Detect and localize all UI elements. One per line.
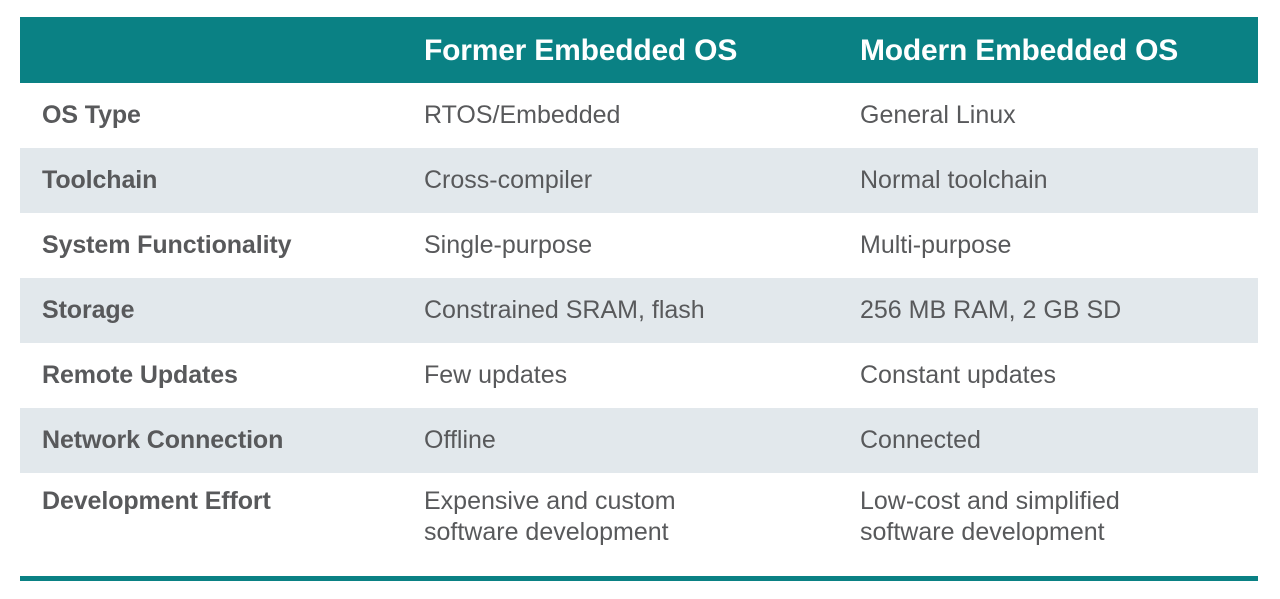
column-header-modern-embedded-os: Modern Embedded OS [840,17,1258,83]
cell-feature: Network Connection [20,408,403,473]
cell-feature: OS Type [20,83,403,148]
embedded-os-comparison-table: Former Embedded OS Modern Embedded OS OS… [20,17,1258,576]
cell-former: Cross-compiler [403,148,840,213]
table-header: Former Embedded OS Modern Embedded OS [20,17,1258,83]
column-header-feature [20,17,403,83]
cell-feature: Development Effort [20,473,403,576]
cell-former: RTOS/Embedded [403,83,840,148]
table-row: Development Effort Expensive and custom … [20,473,1258,576]
table-row: Storage Constrained SRAM, flash 256 MB R… [20,278,1258,343]
cell-former-line-1: Expensive and custom [424,486,840,517]
cell-feature: Toolchain [20,148,403,213]
cell-modern-line-2: software development [860,517,1258,548]
table-row: Remote Updates Few updates Constant upda… [20,343,1258,408]
cell-modern-line-1: Low-cost and simplified [860,486,1258,517]
comparison-slide: Former Embedded OS Modern Embedded OS OS… [0,0,1280,599]
cell-former: Single-purpose [403,213,840,278]
table-row: Toolchain Cross-compiler Normal toolchai… [20,148,1258,213]
cell-feature: System Functionality [20,213,403,278]
table-row: OS Type RTOS/Embedded General Linux [20,83,1258,148]
cell-former: Offline [403,408,840,473]
cell-modern: Constant updates [840,343,1258,408]
cell-feature: Remote Updates [20,343,403,408]
cell-modern: 256 MB RAM, 2 GB SD [840,278,1258,343]
header-row: Former Embedded OS Modern Embedded OS [20,17,1258,83]
column-header-former-embedded-os: Former Embedded OS [403,17,840,83]
cell-feature: Storage [20,278,403,343]
cell-modern: Connected [840,408,1258,473]
table-row: Network Connection Offline Connected [20,408,1258,473]
cell-former-line-2: software development [424,517,840,548]
cell-modern: Low-cost and simplified software develop… [840,473,1258,576]
cell-former: Constrained SRAM, flash [403,278,840,343]
cell-former: Few updates [403,343,840,408]
table-body: OS Type RTOS/Embedded General Linux Tool… [20,83,1258,576]
cell-modern: General Linux [840,83,1258,148]
cell-modern: Normal toolchain [840,148,1258,213]
bottom-accent-rule [20,576,1258,581]
table-row: System Functionality Single-purpose Mult… [20,213,1258,278]
cell-modern: Multi-purpose [840,213,1258,278]
cell-former: Expensive and custom software developmen… [403,473,840,576]
